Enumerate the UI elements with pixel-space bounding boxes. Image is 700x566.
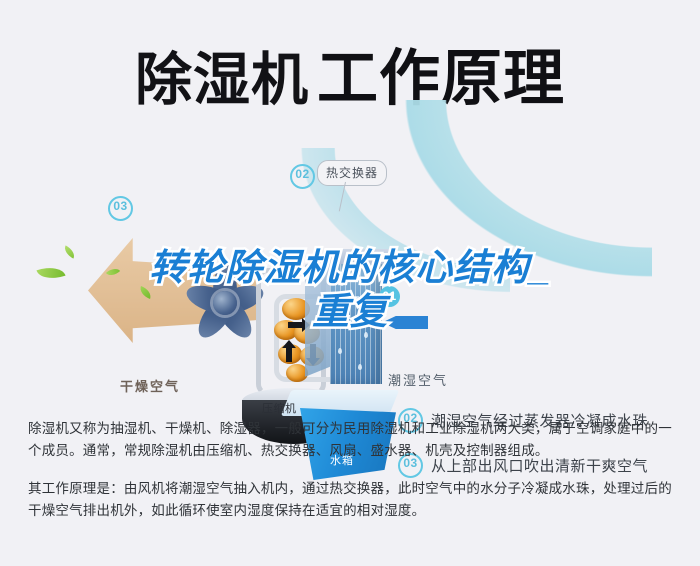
water-droplet-icon xyxy=(338,348,342,354)
humid-air-label: 潮湿空气 xyxy=(388,370,448,389)
heat-exchanger-callout: 热交换器 xyxy=(317,160,387,186)
title-part-one: 除湿机 xyxy=(135,48,309,112)
fan-hub xyxy=(213,291,237,315)
water-droplet-icon xyxy=(356,296,360,302)
dehumidifier-diagram: 水箱 压缩机 03 02 01 热交换器 干燥空气 潮湿空气 02 潮湿空气经过… xyxy=(0,108,700,408)
paragraph-definition: 除湿机又称为抽湿机、干燥机、除湿器，一般可分为民用除湿机和工业除湿机两大类，属于… xyxy=(28,418,676,462)
water-droplet-icon xyxy=(358,364,362,370)
water-droplet-icon xyxy=(364,332,368,338)
water-droplet-icon xyxy=(346,314,350,320)
water-droplet-icon xyxy=(340,280,344,286)
paragraph-principle: 其工作原理是：由风机将潮湿空气抽入机内，通过热交换器，此时空气中的水分子冷凝成水… xyxy=(28,478,676,522)
humid-air-inlet-arrow xyxy=(382,316,428,329)
badge-01-humid-air: 01 xyxy=(379,286,400,307)
badge-02-heat-exchanger: 02 xyxy=(290,164,315,189)
infographic-page: 除湿机工作原理 xyxy=(0,0,700,566)
heat-exchanger-fins xyxy=(330,264,382,384)
leaf-icon xyxy=(36,262,65,283)
compressor-label: 压缩机 xyxy=(262,400,297,416)
article-body: 除湿机又称为抽湿机、干燥机、除湿器，一般可分为民用除湿机和工业除湿机两大类，属于… xyxy=(28,418,676,522)
badge-03-dry-air: 03 xyxy=(108,196,133,221)
leaf-icon xyxy=(62,245,77,258)
dry-air-label: 干燥空气 xyxy=(120,376,180,395)
